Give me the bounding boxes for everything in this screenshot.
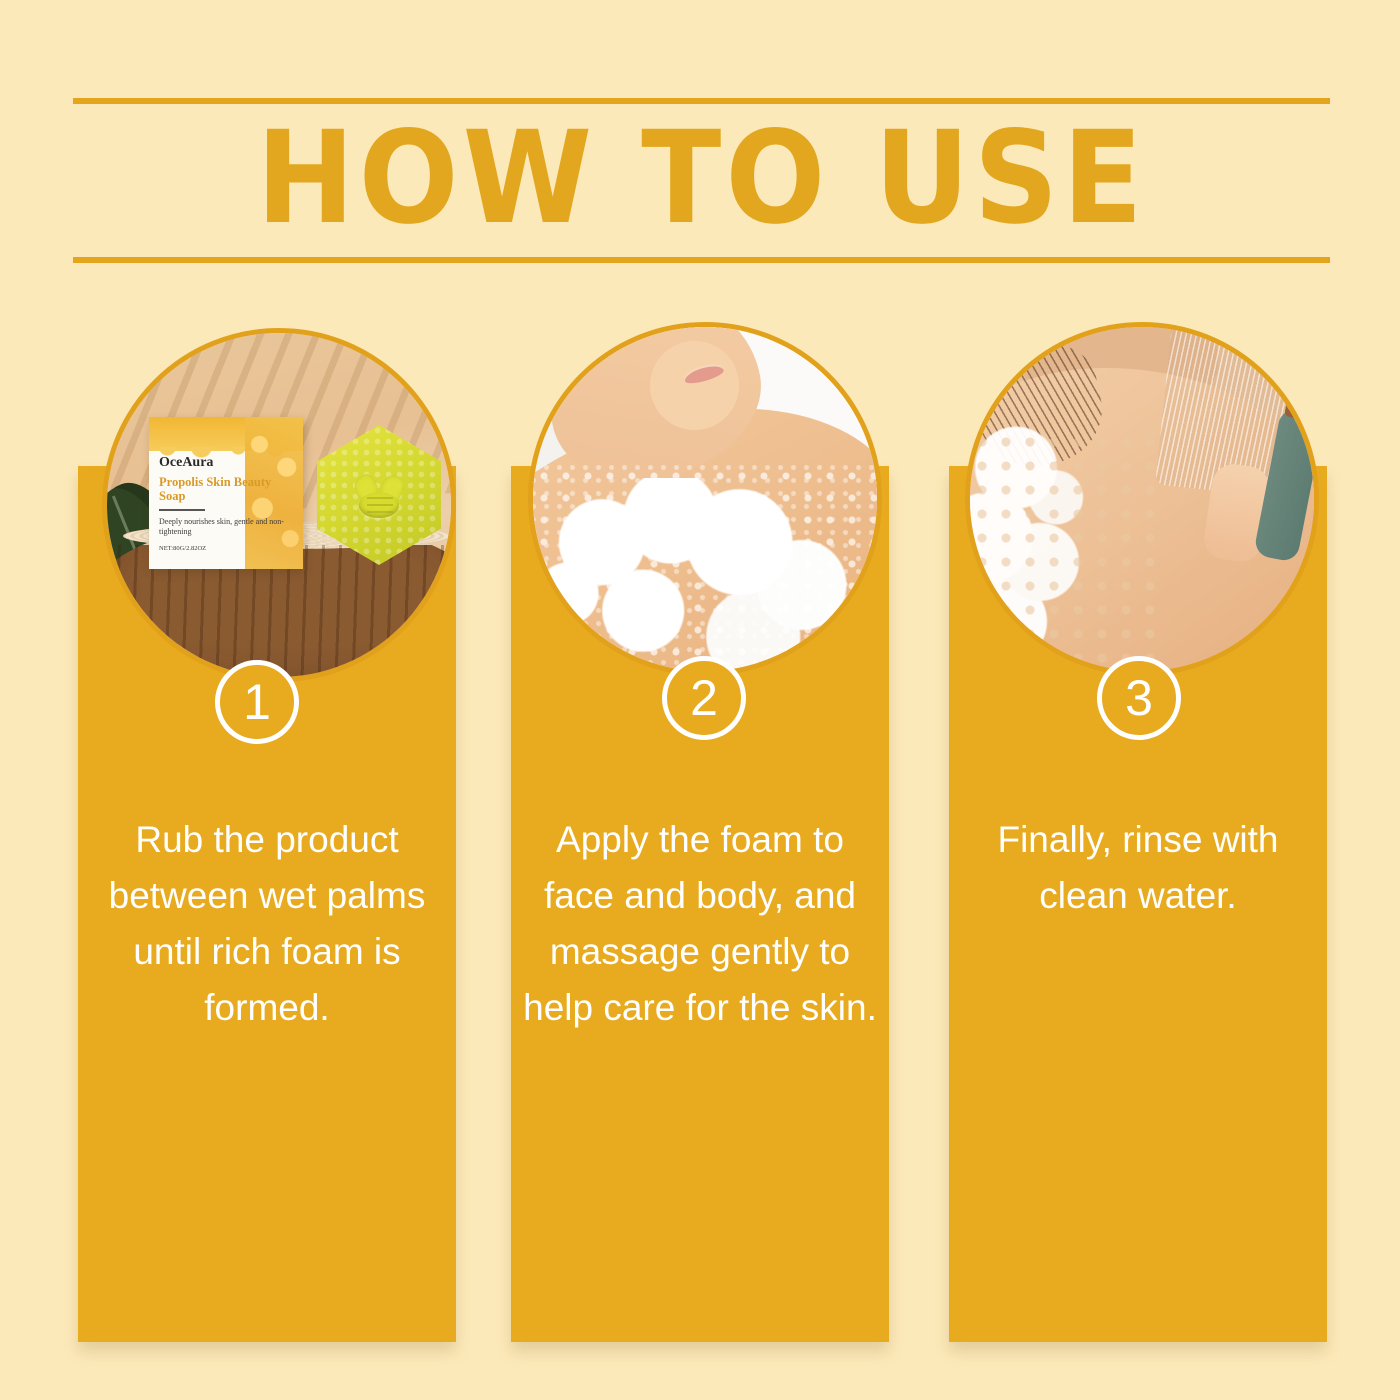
step-3-number-badge: 3 [1097,656,1181,740]
step-2-photo-inner [533,327,877,671]
step-3-photo-inner [970,327,1314,671]
product-brand: OceAura [159,455,295,471]
step-2-number-badge: 2 [662,656,746,740]
step-3-caption: Finally, rinse with clean water. [959,812,1317,924]
step-1-photo: OceAura Propolis Skin Beauty Soap Deeply… [102,328,456,682]
step-2-caption: Apply the foam to face and body, and mas… [521,812,879,1036]
chin [650,341,739,430]
step-2-photo [528,322,882,676]
step-1-photo-inner: OceAura Propolis Skin Beauty Soap Deeply… [107,333,451,677]
product-name: Propolis Skin Beauty Soap [159,475,295,503]
foam-on-shoulder-scene [533,327,877,671]
soap-box: OceAura Propolis Skin Beauty Soap Deeply… [149,417,303,569]
step-1-number-badge: 1 [215,660,299,744]
foam-bubbles [533,465,877,671]
bee-icon [359,492,399,518]
soap-product-scene: OceAura Propolis Skin Beauty Soap Deeply… [107,333,451,677]
product-net-weight: NET:80G/2.82OZ [159,545,295,552]
step-1-caption: Rub the product between wet palms until … [88,812,446,1036]
product-description: Deeply nourishes skin, gentle and non-ti… [159,517,295,537]
foam-bubbles [970,430,1163,671]
product-divider [159,509,205,511]
rinsing-back-scene [970,327,1314,671]
steps-container: OceAura Propolis Skin Beauty Soap Deeply… [0,0,1400,1400]
step-3-photo [965,322,1319,676]
